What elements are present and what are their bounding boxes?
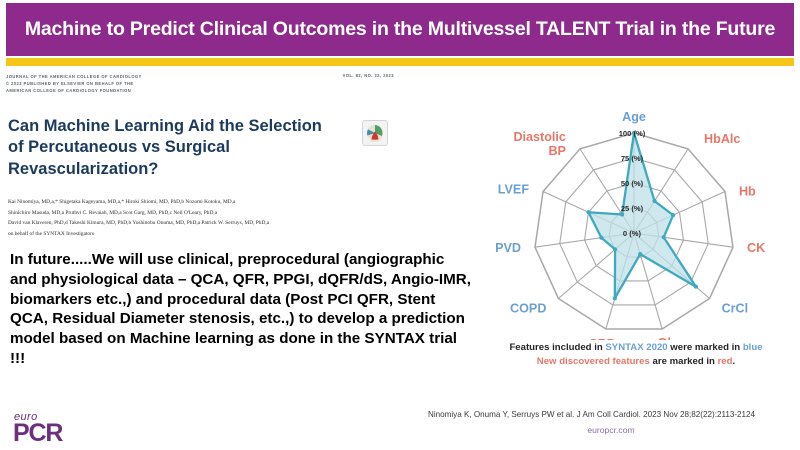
radar-tick-75: 75 (%) — [621, 154, 644, 163]
gold-divider — [6, 58, 794, 66]
caption-line2-end: . — [733, 356, 736, 367]
slide-title-bar: Machine to Predict Clinical Outcomes in … — [6, 3, 794, 56]
radar-axis-label-hbalc: HbAlc — [704, 132, 740, 146]
journal-volume: VOL. 82, NO. 22, 2023 — [343, 73, 466, 78]
author-line-3: David van Klaveren, PhD,d Takeshi Kimura… — [8, 218, 408, 229]
journal-name: JOURNAL OF THE AMERICAN COLLEGE OF CARDI… — [6, 73, 142, 80]
paper-title: Can Machine Learning Aid the Selection o… — [8, 116, 338, 180]
radar-axis-label-copd: COPD — [510, 301, 546, 315]
radar-axis-label-crcl: CrCl — [722, 301, 749, 315]
caption-line2-mid: are marked in — [650, 356, 718, 367]
radar-chart-svg: 0 (%)25 (%)50 (%)75 (%)100 (%) AgeHbAlcH… — [476, 100, 796, 340]
caption-part2: were marked in — [668, 342, 743, 353]
radar-axis-label-age: Age — [622, 110, 646, 124]
chart-legend-caption: Features included in SYNTAX 2020 were ma… — [476, 341, 796, 369]
radar-tick-0: 0 (%) — [623, 229, 642, 238]
page-title: Machine to Predict Clinical Outcomes in … — [25, 18, 775, 41]
caption-syntax2020: SYNTAX 2020 — [605, 342, 667, 353]
europcr-url[interactable]: europcr.com — [428, 425, 794, 435]
jacc-seal-badge — [362, 120, 388, 146]
caption-red-word: red — [718, 356, 733, 367]
journal-imprint: JOURNAL OF THE AMERICAN COLLEGE OF CARDI… — [6, 73, 142, 94]
author-line-4: on behalf of the SYNTAX Investigators — [8, 229, 408, 240]
slide-root: Machine to Predict Clinical Outcomes in … — [0, 0, 800, 450]
radar-axis-label-crp: CRP — [589, 337, 616, 340]
future-statement-text: In future.....We will use clinical, prep… — [10, 250, 475, 369]
radar-chart: 0 (%)25 (%)50 (%)75 (%)100 (%) AgeHbAlcH… — [476, 100, 796, 340]
radar-axis-label-hb: Hb — [739, 184, 756, 198]
caption-new-features: New discovered features — [537, 356, 650, 367]
caption-part1: Features included in — [509, 342, 605, 353]
radar-tick-25: 25 (%) — [621, 204, 644, 213]
radar-axis-label-lvef: LVEF — [498, 182, 530, 196]
radar-axis-label-ck: CK — [747, 241, 765, 255]
author-line-2: Shinichiro Masuda, MD,a Pruthvi C. Revai… — [8, 208, 408, 219]
radar-tick-50: 50 (%) — [621, 179, 644, 188]
author-line-1: Kai Ninomiya, MD,a,* Shigetaka Kageyama,… — [8, 197, 408, 208]
journal-header: JOURNAL OF THE AMERICAN COLLEGE OF CARDI… — [6, 73, 466, 94]
journal-copyright: © 2023 PUBLISHED BY ELSEVIER ON BEHALF O… — [6, 80, 142, 87]
caption-blue-word: blue — [743, 342, 763, 353]
radar-axis-label-glu: Glu — [658, 336, 679, 340]
radar-axis-label-diastolic-bp: DiastolicBP — [513, 130, 566, 158]
europcr-logo: euro PCR — [13, 412, 62, 446]
journal-foundation: AMERICAN COLLEGE OF CARDIOLOGY FOUNDATIO… — [6, 87, 142, 94]
logo-pcr-text: PCR — [13, 421, 62, 446]
citation-text: Ninomiya K, Onuma Y, Serruys PW et al. J… — [428, 409, 794, 421]
radar-axis-label-pvd: PVD — [495, 241, 521, 255]
radar-tick-100: 100 (%) — [619, 129, 646, 138]
author-list: Kai Ninomiya, MD,a,* Shigetaka Kageyama,… — [8, 197, 408, 239]
jacc-seal-icon — [366, 124, 384, 142]
